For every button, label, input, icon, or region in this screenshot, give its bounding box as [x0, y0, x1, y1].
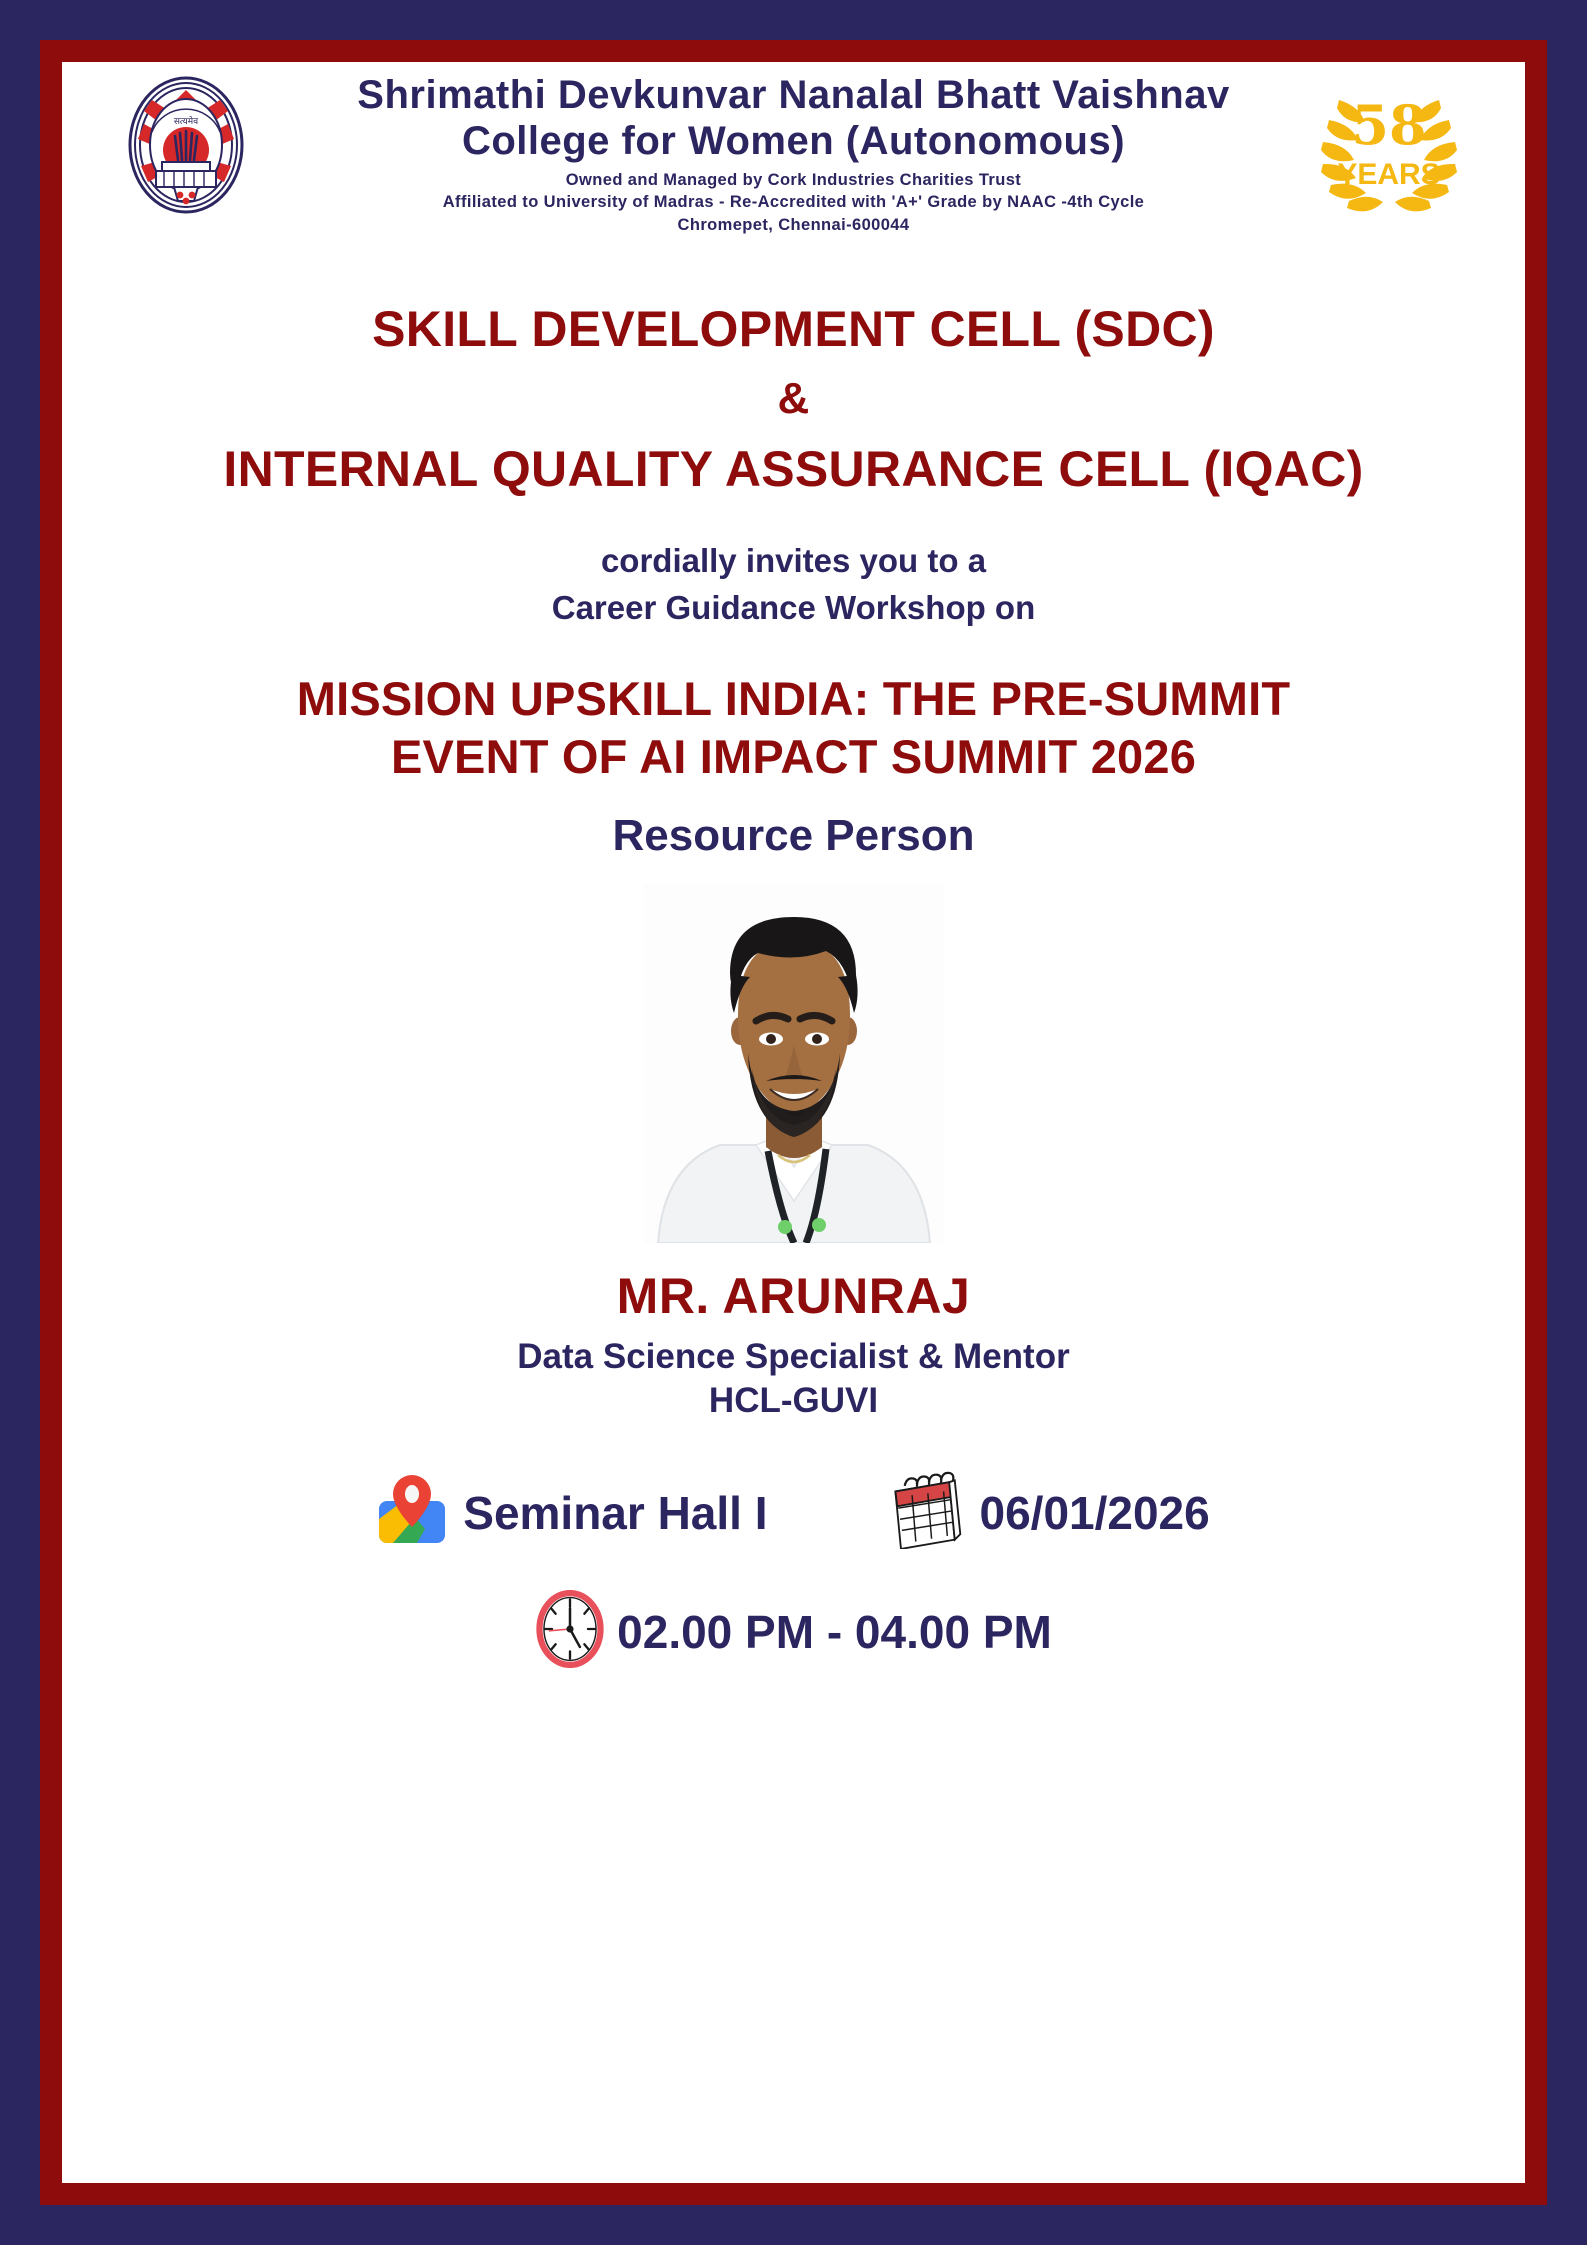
speaker-photo-wrap: [102, 883, 1485, 1243]
speaker-role: Data Science Specialist & Mentor: [102, 1337, 1485, 1377]
event-title: MISSION UPSKILL INDIA: THE PRE-SUMMIT EV…: [102, 670, 1485, 786]
college-subtitle: Owned and Managed by Cork Industries Cha…: [102, 169, 1485, 236]
badge-unit: YEARS: [1337, 158, 1440, 191]
event-details-row: Seminar Hall I: [102, 1471, 1485, 1554]
poster-sheet: सत्यमेव: [62, 62, 1525, 2183]
college-subtitle-line2: Affiliated to University of Madras - Re-…: [443, 193, 1145, 211]
resource-person-label: Resource Person: [102, 811, 1485, 861]
speaker-portrait: [644, 883, 944, 1243]
poster-root: सत्यमेव: [0, 0, 1587, 2245]
event-title-line1: MISSION UPSKILL INDIA: THE PRE-SUMMIT: [297, 672, 1291, 725]
calendar-icon: [888, 1471, 964, 1554]
date-detail: 06/01/2026: [888, 1471, 1210, 1554]
event-title-line2: EVENT OF AI IMPACT SUMMIT 2026: [391, 730, 1196, 783]
venue-text: Seminar Hall I: [463, 1486, 767, 1540]
date-text: 06/01/2026: [980, 1486, 1210, 1540]
time-text: 02.00 PM - 04.00 PM: [617, 1605, 1052, 1659]
svg-text:सत्यमेव: सत्यमेव: [174, 115, 199, 127]
time-detail: 02.00 PM - 04.00 PM: [102, 1590, 1485, 1673]
laurel-wreath-icon: 58 YEARS: [1303, 72, 1475, 217]
organizer-sdc: SKILL DEVELOPMENT CELL (SDC): [102, 300, 1485, 358]
speaker-organization: HCL-GUVI: [102, 1381, 1485, 1421]
map-pin-icon: [377, 1473, 447, 1552]
college-subtitle-line3: Chromepet, Chennai-600044: [678, 216, 910, 234]
college-name: Shrimathi Devkunvar Nanalal Bhatt Vaishn…: [102, 72, 1485, 165]
college-subtitle-line1: Owned and Managed by Cork Industries Cha…: [566, 171, 1021, 189]
college-crest-icon: सत्यमेव: [122, 74, 250, 216]
poster-red-border: सत्यमेव: [40, 40, 1547, 2205]
poster-header: सत्यमेव: [102, 66, 1485, 276]
invitation-line1: cordially invites you to a: [601, 542, 986, 579]
clock-icon: [535, 1590, 605, 1673]
college-name-line2: College for Women (Autonomous): [462, 119, 1125, 163]
invitation-line2: Career Guidance Workshop on: [552, 589, 1036, 626]
college-name-line1: Shrimathi Devkunvar Nanalal Bhatt Vaishn…: [357, 73, 1229, 117]
organizer-iqac: INTERNAL QUALITY ASSURANCE CELL (IQAC): [102, 440, 1485, 498]
invitation-text: cordially invites you to a Career Guidan…: [102, 538, 1485, 632]
organizer-ampersand: &: [102, 374, 1485, 424]
badge-number: 58: [1351, 93, 1426, 157]
venue-detail: Seminar Hall I: [377, 1473, 767, 1552]
speaker-name: MR. ARUNRAJ: [102, 1267, 1485, 1325]
